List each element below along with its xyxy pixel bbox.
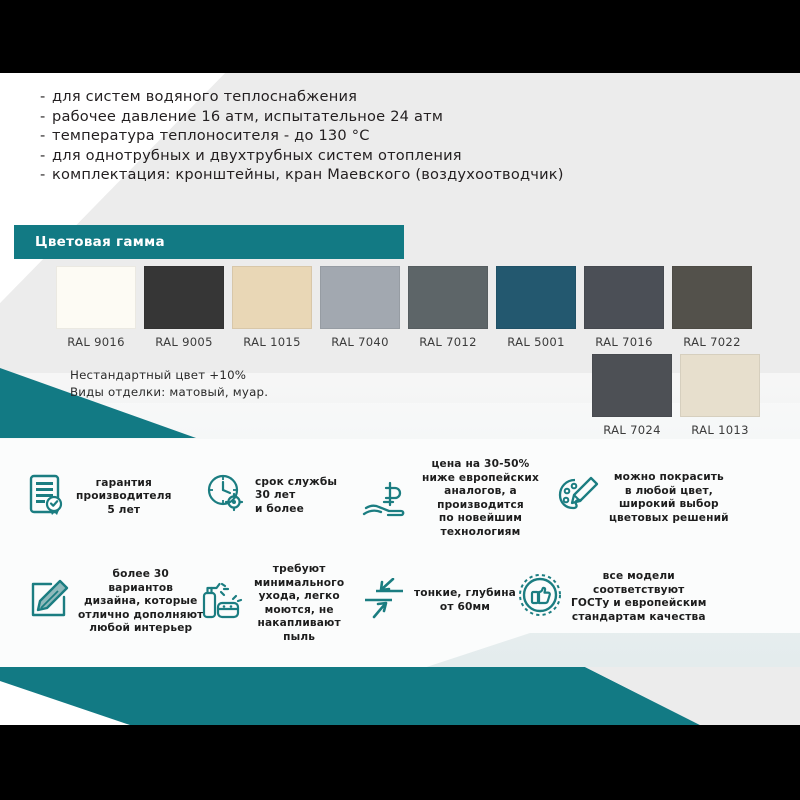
swatch-chip [672,266,752,329]
swatch-label: RAL 7024 [592,423,672,437]
feature-price: цена на 30-50% ниже европейских аналогов… [362,458,539,540]
palette-header-title: Цветовая гамма [35,234,165,250]
feature-slim-depth: тонкие, глубина от 60мм [362,578,516,624]
color-swatch[interactable]: RAL 1013 [680,354,760,437]
swatch-label: RAL 1015 [232,335,312,349]
swatch-chip [320,266,400,329]
bullet-dash: - [40,126,52,146]
swatch-label: RAL 1013 [680,423,760,437]
palette-note: Нестандартный цвет +10% Виды отделки: ма… [70,367,268,401]
feature-service-life: срок службы 30 лет и более [205,473,337,519]
hand-ruble-icon [362,474,414,524]
spec-bullet-list: - для систем водяного теплоснабжения - р… [40,87,640,185]
feature-designs-text: более 30 вариантов дизайна, которые отли… [78,568,203,636]
swatch-chip [56,266,136,329]
color-swatch[interactable]: RAL 9016 [56,266,136,349]
spec-bullet-text: температура теплоносителя - до 130 °C [52,126,370,146]
swatch-label: RAL 5001 [496,335,576,349]
color-swatch[interactable]: RAL 9005 [144,266,224,349]
spec-bullet-text: для однотрубных и двухтрубных систем ото… [52,146,462,166]
color-swatch[interactable]: RAL 7024 [592,354,672,437]
color-swatch[interactable]: RAL 1015 [232,266,312,349]
palette-brush-icon [557,474,601,522]
feature-warranty-text: гарантия производителя 5 лет [76,477,172,518]
feature-standards-text: все модели соответствуют ГОСТу и европей… [571,570,707,624]
swatch-label: RAL 7016 [584,335,664,349]
swatch-chip [680,354,760,417]
feature-price-text: цена на 30-50% ниже европейских аналогов… [422,458,539,540]
quality-badge-icon [517,572,563,622]
slide-canvas: - для систем водяного теплоснабжения - р… [0,73,800,725]
swatch-label: RAL 9005 [144,335,224,349]
feature-warranty: гарантия производителя 5 лет [28,473,172,521]
feature-designs: более 30 вариантов дизайна, которые отли… [28,568,203,636]
swatch-chip [408,266,488,329]
spec-bullet-text: рабочее давление 16 атм, испытательное 2… [52,107,443,127]
bullet-dash: - [40,146,52,166]
color-swatch[interactable]: RAL 5001 [496,266,576,349]
spec-bullet-text: для систем водяного теплоснабжения [52,87,357,107]
spec-bullet-item: - для систем водяного теплоснабжения [40,87,640,107]
spray-sponge-icon [200,579,246,629]
swatch-chip [144,266,224,329]
clock-gear-icon [205,473,247,519]
bullet-dash: - [40,87,52,107]
feature-service-life-text: срок службы 30 лет и более [255,476,337,517]
bullet-dash: - [40,107,52,127]
color-swatch[interactable]: RAL 7040 [320,266,400,349]
feature-standards: все модели соответствуют ГОСТу и европей… [517,570,707,624]
spec-bullet-item: - для однотрубных и двухтрубных систем о… [40,146,640,166]
spec-bullet-item: - рабочее давление 16 атм, испытательное… [40,107,640,127]
color-swatch[interactable]: RAL 7016 [584,266,664,349]
color-swatch[interactable]: RAL 7022 [672,266,752,349]
swatch-chip [592,354,672,417]
swatch-label: RAL 7012 [408,335,488,349]
pencil-note-icon [28,579,70,625]
feature-low-maintenance: требуют минимального ухода, легко моются… [200,563,344,645]
swatch-chip [584,266,664,329]
feature-slim-depth-text: тонкие, глубина от 60мм [414,587,516,614]
depth-arrows-icon [362,578,406,624]
swatch-chip [232,266,312,329]
swatch-label: RAL 7022 [672,335,752,349]
swatch-label: RAL 7040 [320,335,400,349]
palette-note-line-1: Нестандартный цвет +10% [70,367,268,384]
swatch-chip [496,266,576,329]
color-swatch-row-secondary: RAL 7024 RAL 1013 [592,354,760,437]
palette-note-line-2: Виды отделки: матовый, муар. [70,384,268,401]
swatch-label: RAL 9016 [56,335,136,349]
palette-section-header: Цветовая гамма [14,225,404,259]
spec-bullet-text: комплектация: кронштейны, кран Маевского… [52,165,564,185]
feature-paintable: можно покрасить в любой цвет, широкий вы… [557,471,729,525]
feature-paintable-text: можно покрасить в любой цвет, широкий вы… [609,471,729,525]
certificate-icon [28,473,68,521]
feature-low-maintenance-text: требуют минимального ухода, легко моются… [254,563,344,645]
bullet-dash: - [40,165,52,185]
teal-band-bottom [0,667,700,725]
color-swatch[interactable]: RAL 7012 [408,266,488,349]
spec-bullet-item: - температура теплоносителя - до 130 °C [40,126,640,146]
color-swatch-row-primary: RAL 9016 RAL 9005 RAL 1015 RAL 7040 RAL … [56,266,752,349]
spec-bullet-item: - комплектация: кронштейны, кран Маевско… [40,165,640,185]
